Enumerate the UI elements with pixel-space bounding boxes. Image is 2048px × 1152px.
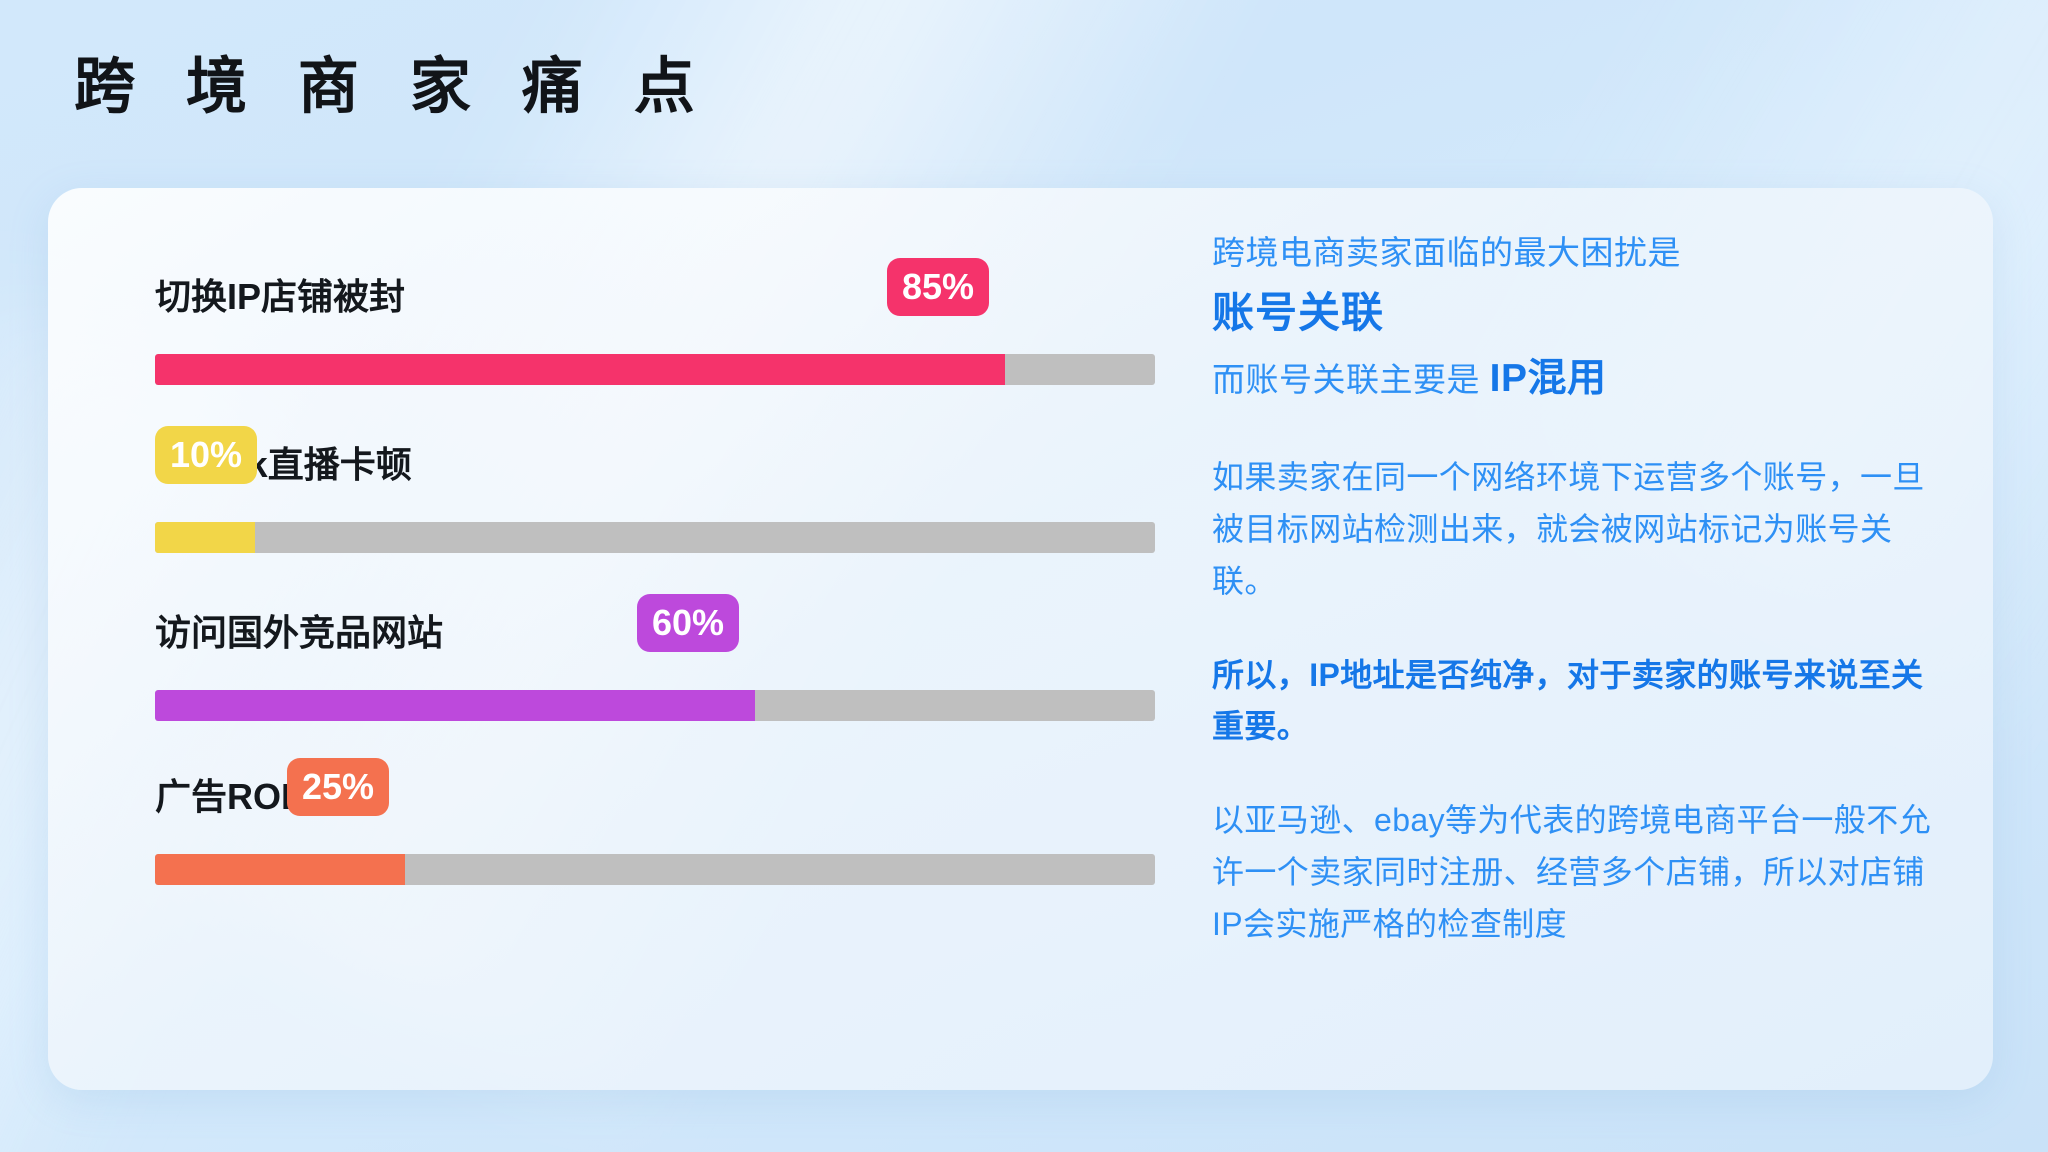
bar-row: 广告ROI降低 25% (107, 758, 1167, 918)
bar-label: 切换IP店铺被封 (155, 268, 405, 320)
bar-fill (155, 690, 755, 721)
bar-track (155, 690, 1155, 721)
bar-row: 切换IP店铺被封 85% (107, 258, 1167, 418)
bar-label: 访问国外竞品网站 (155, 604, 443, 656)
bar-fill (155, 854, 405, 885)
page-title: 跨 境 商 家 痛 点 (74, 54, 712, 118)
explanation-panel: 跨境电商卖家面临的最大困扰是 账号关联 而账号关联主要是 IP混用 如果卖家在同… (1212, 230, 1952, 951)
paragraph-ip-purity: 所以，IP地址是否纯净，对于卖家的账号来说至关重要。 (1212, 650, 1952, 754)
bar-track (155, 522, 1155, 553)
slide-root: 跨 境 商 家 痛 点 切换IP店铺被封 85% TikTok直播卡顿 10% (0, 0, 2048, 1152)
bar-row: TikTok直播卡顿 10% (107, 426, 1167, 586)
hero-keyword: 账号关联 (1212, 285, 1952, 342)
bar-value-badge: 25% (287, 758, 389, 816)
bar-header: TikTok直播卡顿 10% (107, 426, 1167, 508)
bar-track (155, 854, 1155, 885)
bar-value-badge: 60% (637, 594, 739, 652)
bar-fill (155, 354, 1005, 385)
subheading-prefix: 而账号关联主要是 (1212, 361, 1490, 398)
bar-value-badge: 85% (887, 258, 989, 316)
lead-text: 跨境电商卖家面临的最大困扰是 (1212, 230, 1952, 277)
content-card: 切换IP店铺被封 85% TikTok直播卡顿 10% (48, 188, 1993, 1090)
bar-row: 访问国外竞品网站 60% (107, 594, 1167, 754)
bar-track (155, 354, 1155, 385)
paragraph-platform-policy: 以亚马逊、ebay等为代表的跨境电商平台一般不允许一个卖家同时注册、经营多个店铺… (1212, 795, 1952, 950)
subheading: 而账号关联主要是 IP混用 (1212, 352, 1952, 407)
bar-header: 切换IP店铺被封 85% (107, 258, 1167, 340)
bar-header: 广告ROI降低 25% (107, 758, 1167, 840)
bar-value-badge: 10% (155, 426, 257, 484)
subheading-keyword: IP混用 (1490, 357, 1607, 400)
bar-header: 访问国外竞品网站 60% (107, 594, 1167, 676)
paragraph-account-association: 如果卖家在同一个网络环境下运营多个账号，一旦被目标网站检测出来，就会被网站标记为… (1212, 452, 1952, 607)
pain-point-bar-chart: 切换IP店铺被封 85% TikTok直播卡顿 10% (107, 230, 1167, 1050)
bar-fill (155, 522, 255, 553)
